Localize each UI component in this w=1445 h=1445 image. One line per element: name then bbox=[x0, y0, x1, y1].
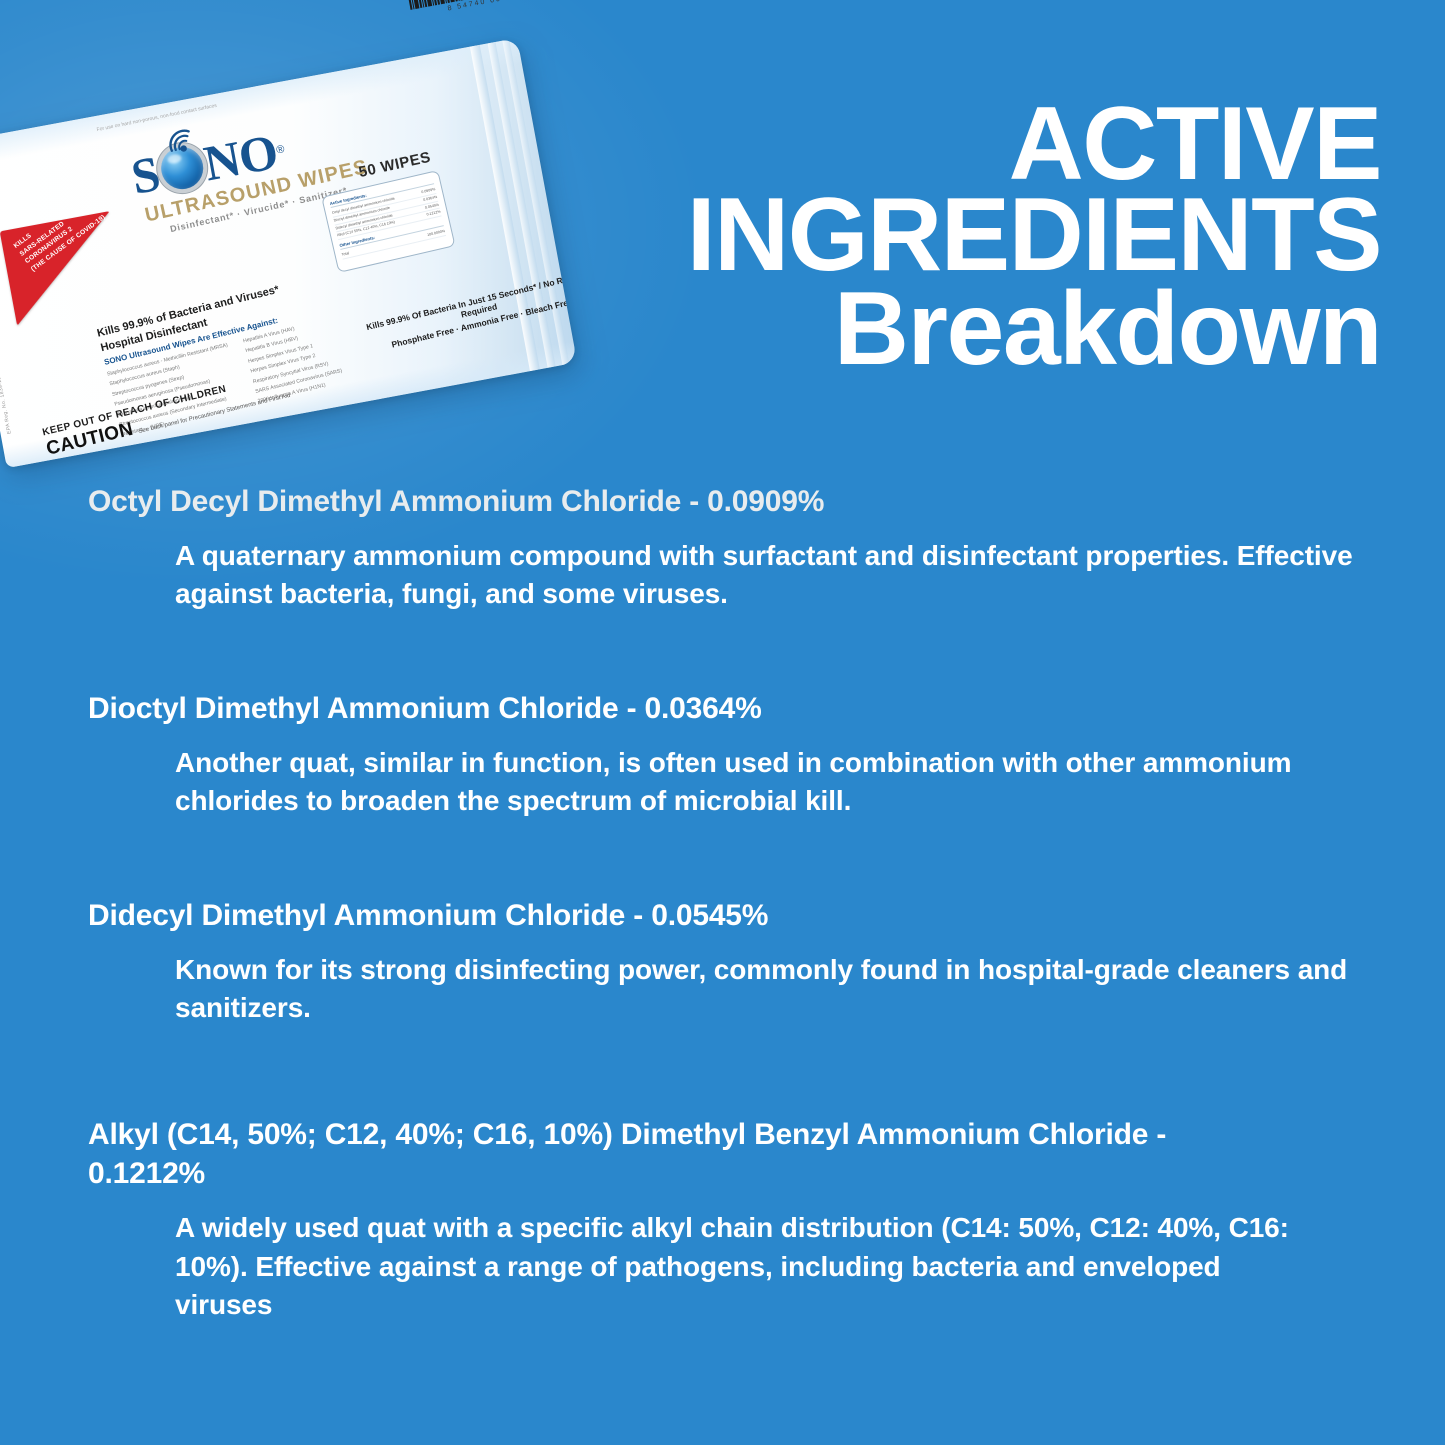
ultrasound-wave-icon bbox=[164, 126, 202, 156]
section-spacer bbox=[88, 643, 1388, 689]
panel-row-name: Octyl decyl dimethyl ammonium chloride bbox=[331, 196, 395, 217]
ingredient-heading: Didecyl Dimethyl Ammonium Chloride - 0.0… bbox=[88, 896, 1388, 935]
ingredient-item: Alkyl (C14, 50%; C12, 40%; C16, 10%) Dim… bbox=[88, 1115, 1388, 1323]
panel-row-value: 0.0545% bbox=[424, 201, 439, 211]
ingredient-item: Dioctyl Dimethyl Ammonium Chloride - 0.0… bbox=[88, 689, 1388, 820]
logo-letters-no: NO bbox=[200, 126, 281, 188]
package-side-text: EPA Reg. No. 1839-190-92714 EPA Est. No.… bbox=[0, 289, 13, 434]
panel-total-value: 100.0000% bbox=[427, 228, 446, 239]
package-caution-block: KEEP OUT OF REACH OF CHILDREN CAUTION Se… bbox=[41, 369, 291, 460]
title-line-breakdown: Breakdown bbox=[687, 281, 1381, 378]
panel-other-heading: Other Ingredients: bbox=[339, 220, 444, 251]
panel-row-value: 0.1212% bbox=[426, 209, 441, 219]
package-top-text: For use on hard non-porous, non-food con… bbox=[96, 103, 217, 133]
product-tagline: Disinfectant* · Virucide* · Sanitizer* bbox=[169, 176, 388, 234]
panel-row-name: Dioctyl dimethyl ammonium chloride bbox=[333, 205, 391, 225]
ingredient-description: Another quat, similar in function, is of… bbox=[175, 744, 1355, 820]
panel-row-value: 0.0909% bbox=[421, 186, 436, 196]
panel-row-name: Alkyl (C14 50%, C12 40%, C16 10%) bbox=[337, 220, 396, 240]
germ-column-right: Hepatitis A Virus (HAV) Hepatitis B Viru… bbox=[242, 316, 346, 408]
ingredient-item: Didecyl Dimethyl Ammonium Chloride - 0.0… bbox=[88, 896, 1388, 1027]
product-package-image: 8 54740 00401 1 For use on hard non-poro… bbox=[0, 14, 602, 484]
sono-logo: S NO ® ULTRASOUND WIPES Disinfectant* · … bbox=[127, 103, 389, 235]
keep-out-of-reach-label: KEEP OUT OF REACH OF CHILDREN bbox=[41, 369, 286, 438]
ingredient-item: Octyl Decyl Dimethyl Ammonium Chloride -… bbox=[88, 482, 1388, 613]
barcode-number: 8 54740 00401 1 bbox=[447, 0, 529, 12]
ingredient-heading: Alkyl (C14, 50%; C12, 40%; C16, 10%) Dim… bbox=[88, 1115, 1278, 1193]
caution-note: See back panel for Precautionary Stateme… bbox=[138, 393, 291, 435]
panel-total-label: Total bbox=[341, 250, 350, 258]
claim-line-2: Hospital Disinfectant bbox=[99, 272, 393, 355]
product-line-label: ULTRASOUND WIPES bbox=[143, 152, 386, 227]
bottom-claim-line-2: Phosphate Free · Ammonia Free · Bleach F… bbox=[359, 289, 577, 357]
barcode-icon bbox=[403, 0, 520, 10]
claim-line-1: Kills 99.9% of Bacteria and Viruses* bbox=[96, 257, 390, 340]
package-shadow bbox=[0, 48, 581, 478]
badge-line-4: (THE CAUSE OF COVID-19) bbox=[29, 212, 109, 274]
package-bottom-claim: Kills 99.9% Of Bacteria In Just 15 Secon… bbox=[354, 267, 577, 357]
package-ingredient-panel: Active Ingredients: Octyl decyl dimethyl… bbox=[321, 170, 455, 273]
panel-row-name: Didecyl dimethyl ammonium chloride bbox=[335, 212, 394, 232]
logo-letter-s: S bbox=[127, 148, 163, 202]
title-line-ingredients: INGREDIENTS bbox=[687, 187, 1381, 284]
effective-against-heading: SONO Ultrasound Wipes Are Effective Agai… bbox=[103, 287, 397, 367]
ingredient-heading: Octyl Decyl Dimethyl Ammonium Chloride -… bbox=[88, 482, 1388, 521]
badge-line-3: CORONAVIRUS 2 bbox=[23, 204, 103, 266]
logo-orb-icon bbox=[158, 144, 207, 193]
page-title: ACTIVE INGREDIENTS Breakdown bbox=[687, 96, 1381, 378]
badge-line-1: KILLS bbox=[12, 189, 92, 251]
package-front: For use on hard non-porous, non-food con… bbox=[0, 38, 577, 468]
bottom-claim-line-1: Kills 99.9% Of Bacteria In Just 15 Secon… bbox=[354, 267, 577, 345]
ingredient-list: Octyl Decyl Dimethyl Ammonium Chloride -… bbox=[88, 482, 1388, 1324]
section-spacer bbox=[88, 850, 1388, 896]
ingredient-description: Known for its strong disinfecting power,… bbox=[175, 951, 1355, 1027]
badge-line-2: SARS-RELATED bbox=[18, 196, 98, 258]
ingredient-heading: Dioctyl Dimethyl Ammonium Chloride - 0.0… bbox=[88, 689, 1388, 728]
caution-label: CAUTION bbox=[44, 419, 135, 461]
ingredient-description: A quaternary ammonium compound with surf… bbox=[175, 537, 1355, 613]
section-spacer bbox=[88, 1057, 1388, 1115]
ingredient-description: A widely used quat with a specific alkyl… bbox=[175, 1209, 1295, 1323]
covid-kill-badge: KILLS SARS-RELATED CORONAVIRUS 2 (THE CA… bbox=[0, 211, 127, 326]
panel-active-heading: Active Ingredients: bbox=[329, 177, 434, 208]
panel-row-value: 0.0364% bbox=[423, 194, 438, 204]
red-triangle-icon bbox=[0, 211, 127, 326]
infographic-poster: 8 54740 00401 1 For use on hard non-poro… bbox=[0, 0, 1445, 1445]
germ-column-left: Staphylococcus aureus - Methicillin Resi… bbox=[106, 340, 244, 440]
package-claims-block: Kills 99.9% of Bacteria and Viruses* Hos… bbox=[96, 257, 415, 441]
registered-mark: ® bbox=[275, 143, 285, 156]
wipes-count-label: 50 WIPES bbox=[357, 149, 432, 181]
